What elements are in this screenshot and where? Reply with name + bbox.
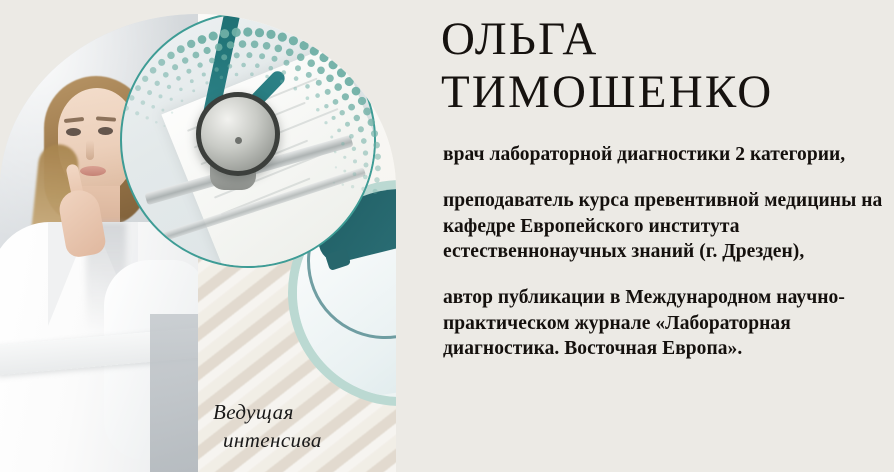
circle-stethoscope — [120, 14, 376, 268]
slide-root: Ведущая интенсива ОЛЬГА ТИМОШЕНКО врач л… — [0, 0, 894, 472]
caption-line-1: Ведущая — [213, 400, 294, 424]
eye-left — [66, 128, 81, 136]
caption-leading-intensive: Ведущая интенсива — [213, 399, 383, 454]
caption-line-2: интенсива — [213, 427, 383, 455]
visual-arch-panel: Ведущая интенсива — [0, 14, 396, 472]
content-column: ОЛЬГА ТИМОШЕНКО врач лабораторной диагно… — [441, 0, 894, 472]
nose-shape — [86, 140, 94, 160]
background-sofa — [150, 314, 198, 472]
person-name-line-1: ОЛЬГА — [441, 13, 598, 65]
bio-paragraph-1: врач лабораторной диагностики 2 категори… — [443, 142, 883, 167]
stethoscope-bell-icon — [196, 92, 280, 176]
bio-paragraph-3: автор публикации в Международном научно-… — [443, 285, 883, 361]
bio-paragraph-2: преподаватель курса превентивной медицин… — [443, 188, 883, 264]
lips-shape — [80, 166, 106, 176]
eye-right — [98, 127, 113, 135]
bio-block: врач лабораторной диагностики 2 категори… — [443, 142, 883, 361]
person-name: ОЛЬГА ТИМОШЕНКО — [441, 13, 894, 119]
person-name-line-2: ТИМОШЕНКО — [441, 66, 894, 119]
